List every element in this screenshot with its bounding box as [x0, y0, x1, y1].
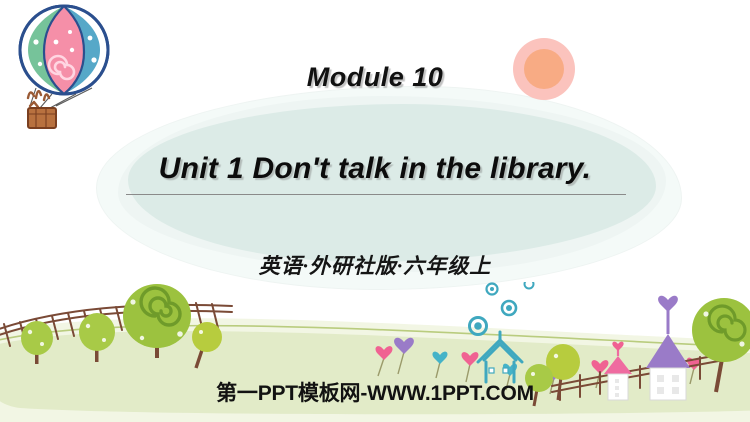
- presentation-slide: Module 10 Unit 1 Don't talk in the libra…: [0, 0, 750, 422]
- module-title: Module 10: [0, 62, 750, 93]
- bubble-circle-decoration: [470, 282, 534, 335]
- house-teal-window: [503, 368, 508, 373]
- watermark-text: 第一PPT模板网-WWW.1PPT.COM: [0, 377, 750, 407]
- course-subtitle: 英语·外研社版·六年级上: [0, 250, 750, 280]
- unit-title: Unit 1 Don't talk in the library.: [0, 152, 750, 186]
- title-underline-rule: [126, 194, 626, 195]
- house-teal-window: [489, 368, 494, 373]
